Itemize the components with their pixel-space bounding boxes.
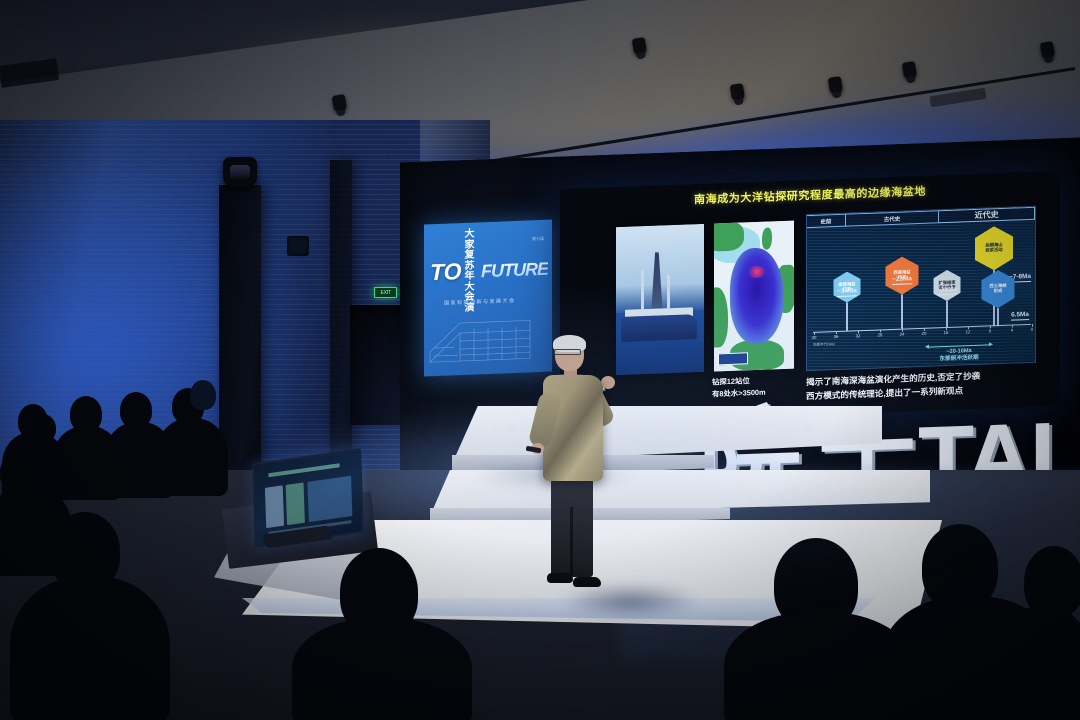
- side-screen-subtitle: 国家科技创新与发展大会: [444, 297, 516, 307]
- wall-speaker-box: [287, 236, 309, 256]
- tick-label-3: 28: [878, 332, 883, 337]
- track-spot-icon-6: [1040, 41, 1055, 60]
- side-screen-hero: TO 大家复苏 年大会演 FUTURE: [430, 246, 548, 297]
- speaker-trousers: [551, 473, 593, 577]
- map-legend: [718, 352, 748, 365]
- audience-body-front-1: [10, 576, 170, 720]
- tick-label-2: 32: [856, 333, 861, 338]
- chart-x-axis-label: 地质年代(Ma): [813, 342, 835, 348]
- photo-bathymetric-map: [714, 221, 794, 372]
- chart-annotation-line2: 东部俯冲活跃期: [939, 355, 978, 363]
- confidence-monitor[interactable]: [252, 448, 364, 548]
- track-spot-icon-5: [902, 61, 917, 80]
- chart-annotation-label: ~20-10Ma 东部俯冲活跃期: [939, 348, 978, 363]
- monitor-tile-title: [268, 463, 339, 477]
- monitor-tile-photo-1: [265, 485, 284, 528]
- track-spot-icon-3: [730, 83, 745, 102]
- speaker-glasses-icon: [554, 349, 581, 355]
- tick-label-10: 0: [1031, 327, 1033, 332]
- chart-stem-1: [901, 295, 903, 329]
- rig-crane-2: [667, 275, 670, 308]
- speaker-shoe-right: [573, 577, 601, 587]
- tick-label-8: 8: [989, 328, 991, 333]
- rig-crane-1: [641, 271, 644, 310]
- tick-label-9: 4: [1011, 328, 1013, 333]
- track-spot-icon-1: [332, 94, 347, 113]
- audience-head-staff-masked: [190, 380, 216, 410]
- chart-age-label-4: 6.5Ma: [1011, 311, 1029, 320]
- moving-head-light-icon: [223, 157, 257, 187]
- tick-label-5: 20: [922, 331, 927, 336]
- chart-age-label-0: ~34Ma: [837, 287, 857, 296]
- tick-label-6: 16: [944, 330, 949, 335]
- side-screen-to: TO: [430, 262, 462, 283]
- audience-body-5: [156, 418, 228, 496]
- chart-era-0: 史前: [807, 214, 846, 228]
- chart-hex-label-3b: 岩浆活动: [985, 248, 1002, 253]
- caption-left-line1: 钻探12站位: [712, 376, 750, 388]
- speaker-hand-right: [601, 376, 615, 389]
- chart-age-label-2: ~15Ma: [937, 286, 957, 295]
- side-screen-cn-line2: 年大会演: [465, 271, 478, 314]
- side-screen-future: FUTURE: [481, 261, 548, 280]
- side-screen-corner-tag: 第七届: [532, 236, 544, 242]
- tick-label-7: 12: [966, 329, 971, 334]
- audience-head-3: [30, 414, 56, 442]
- tick-label-1: 36: [834, 334, 839, 339]
- tick-label-0: 40: [812, 335, 817, 340]
- audience-body-front-5: [996, 606, 1080, 720]
- chart-age-label-1: ~23Ma: [892, 275, 912, 284]
- tick-label-4: 24: [900, 332, 905, 337]
- chart-stem-2: [946, 301, 948, 327]
- speaker-shoe-left: [547, 573, 573, 583]
- map-deep-basin: [730, 247, 784, 345]
- chart-stem-0: [846, 303, 848, 331]
- audience-body-front-2: [292, 618, 472, 720]
- track-spot-icon-2: [632, 37, 647, 56]
- exit-sign-label: EXIT: [381, 290, 391, 296]
- side-screen-cn-line1: 大家复苏: [465, 229, 478, 272]
- chart-stem-4: [997, 308, 999, 326]
- speaker-presenter: [523, 337, 643, 602]
- timeline-chart: 史前 古代史 近代史 地质年代(Ma) 40 36 32 28 24 20: [806, 206, 1036, 371]
- track-spot-icon-4: [828, 76, 843, 95]
- exit-sign: EXIT: [374, 287, 397, 298]
- chart-hex-label-4b: 形成: [994, 289, 1003, 294]
- monitor-tile-photo-2: [286, 482, 305, 525]
- lecture-hall-scene: EXIT 第七届 TO 大家复苏 年大会演 FUTURE 国家科技创新与发展大会: [0, 0, 1080, 720]
- monitor-tile-chart: [307, 476, 352, 522]
